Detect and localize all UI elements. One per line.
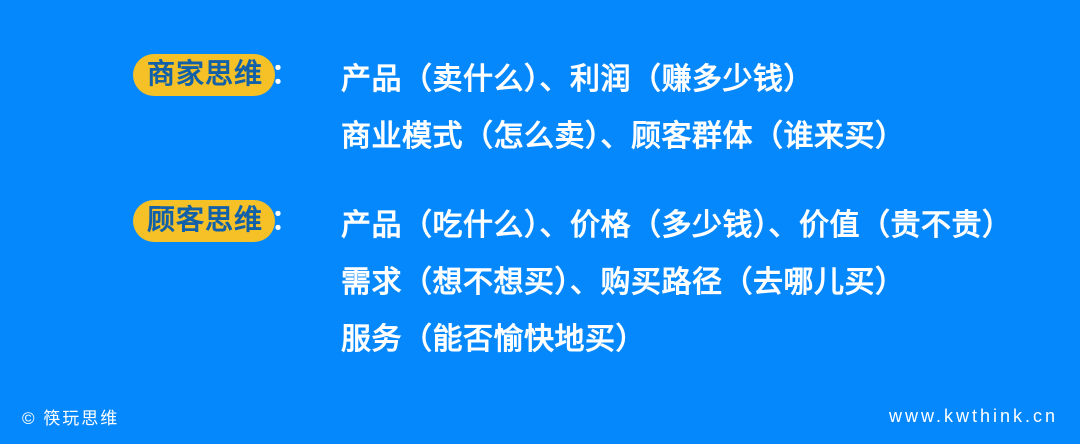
section-customer-thinking: 顾客思维 ： 产品（吃什么）、价格（多少钱）、价值（贵不贵） 需求（想不想买）、…	[133, 196, 1013, 368]
section-merchant-thinking: 商家思维 ： 产品（卖什么）、利润（赚多少钱） 商业模式（怎么卖）、顾客群体（谁…	[133, 50, 906, 165]
customer-line-2: 需求（想不想买）、购买路径（去哪儿买）	[341, 254, 1013, 311]
badge-merchant-thinking: 商家思维	[133, 54, 275, 96]
customer-line-1: 产品（吃什么）、价格（多少钱）、价值（贵不贵）	[341, 197, 1013, 254]
customer-line-3: 服务（能否愉快地买）	[341, 311, 1013, 368]
badge-customer-thinking: 顾客思维	[133, 200, 275, 242]
slide-canvas: 商家思维 ： 产品（卖什么）、利润（赚多少钱） 商业模式（怎么卖）、顾客群体（谁…	[0, 0, 1080, 444]
customer-colon: ：	[271, 200, 299, 242]
customer-label-wrap: 顾客思维 ：	[133, 196, 299, 246]
customer-lines: 产品（吃什么）、价格（多少钱）、价值（贵不贵） 需求（想不想买）、购买路径（去哪…	[341, 196, 1013, 368]
merchant-line-2: 商业模式（怎么卖）、顾客群体（谁来买）	[341, 108, 906, 165]
merchant-label-wrap: 商家思维 ：	[133, 50, 299, 100]
footer-copyright-credit: © 筷玩思维	[22, 404, 119, 429]
merchant-colon: ：	[271, 54, 299, 96]
merchant-line-1: 产品（卖什么）、利润（赚多少钱）	[341, 51, 906, 108]
merchant-lines: 产品（卖什么）、利润（赚多少钱） 商业模式（怎么卖）、顾客群体（谁来买）	[341, 50, 906, 165]
footer-website-url: www.kwthink.cn	[889, 406, 1058, 427]
